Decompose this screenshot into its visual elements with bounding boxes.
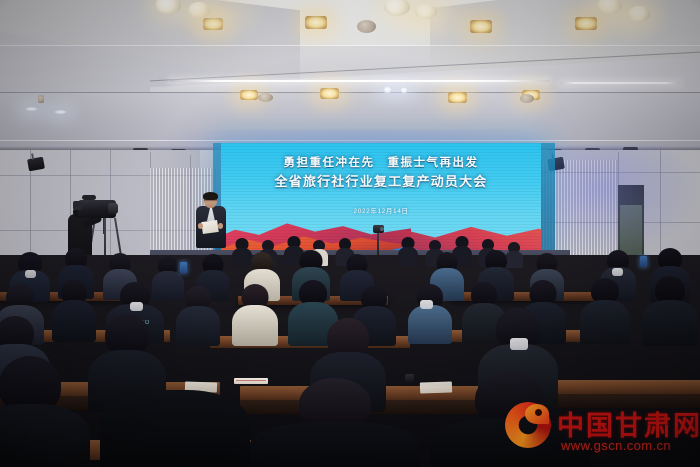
presenter-hand [218,223,223,229]
audience-member [580,278,630,342]
audience-member [250,378,420,467]
wall-panel-line [540,172,700,173]
person-torso [232,305,278,346]
recessed-downlight [305,16,327,29]
led-screen-edge [541,143,555,258]
recessed-downlight [400,87,408,93]
screen-headline-block: 勇担重任冲在先 重振士气再出发 全省旅行社行业复工复产动员大会 [221,156,541,189]
recessed-downlight [240,90,258,100]
recessed-downlight [54,110,67,114]
watermark: 中国甘肃网 www.gscn.com.cn [505,398,695,460]
presenter-papers [201,220,219,234]
audience-member [232,284,278,344]
ceiling-speaker [520,94,534,103]
recessed-downlight [188,2,210,18]
ceiling-speaker [258,93,273,102]
smartphone-screen [640,256,647,267]
recessed-downlight [628,6,650,22]
face-mask [420,300,433,309]
video-camera [78,200,116,218]
presenter-on-stage [193,193,229,255]
presenter-hand [198,223,203,229]
linear-cove-light [170,80,550,82]
person-torso [642,300,698,346]
conference-photo: 勇担重任冲在先 重振士气再出发 全省旅行社行业复工复产动员大会 2022年12月… [0,0,700,467]
linear-cove-light [560,82,680,84]
watermark-url: www.gscn.com.cn [561,438,671,453]
person-torso [100,390,250,467]
ceiling-edge-line [0,45,700,46]
recessed-downlight [383,86,392,93]
recessed-downlight [448,92,467,103]
camera-hood [73,201,82,210]
camera-microphone [82,195,96,200]
recessed-downlight [320,88,339,99]
audience-member [176,286,220,344]
screen-date-line: 2022年12月14日 [221,205,541,215]
person-torso [250,422,420,467]
person-torso [408,305,452,344]
ceiling-edge-line [0,140,700,141]
swirl-logo-dot [535,409,542,416]
screen-headline-line1: 勇担重任冲在先 重振士气再出发 [221,156,541,171]
audience-member [100,390,250,467]
recessed-downlight [415,4,437,19]
person-torso [0,404,90,467]
ceiling-seam-line [0,92,700,93]
ceiling-sprinkler [38,95,44,103]
recessed-downlight [25,107,38,111]
person-torso [580,300,630,344]
face-mask [130,302,143,311]
person-torso [176,306,220,346]
audience-member [0,356,90,467]
audience-member [398,237,418,265]
face-mask [510,338,528,350]
person-torso [398,247,418,266]
camera-lens [380,227,384,231]
smartphone-screen [180,262,187,273]
face-mask [612,268,623,276]
presenter-hair [203,192,218,200]
face-mask [25,270,36,278]
recessed-downlight [470,20,492,33]
audience-member [408,284,452,342]
camera-lens [108,203,118,214]
audience-member [642,276,698,344]
recessed-downlight [203,18,223,30]
recessed-downlight [575,17,597,30]
screen-headline-line2: 全省旅行社行业复工复产动员大会 [221,174,541,189]
ceiling-speaker [357,20,376,33]
